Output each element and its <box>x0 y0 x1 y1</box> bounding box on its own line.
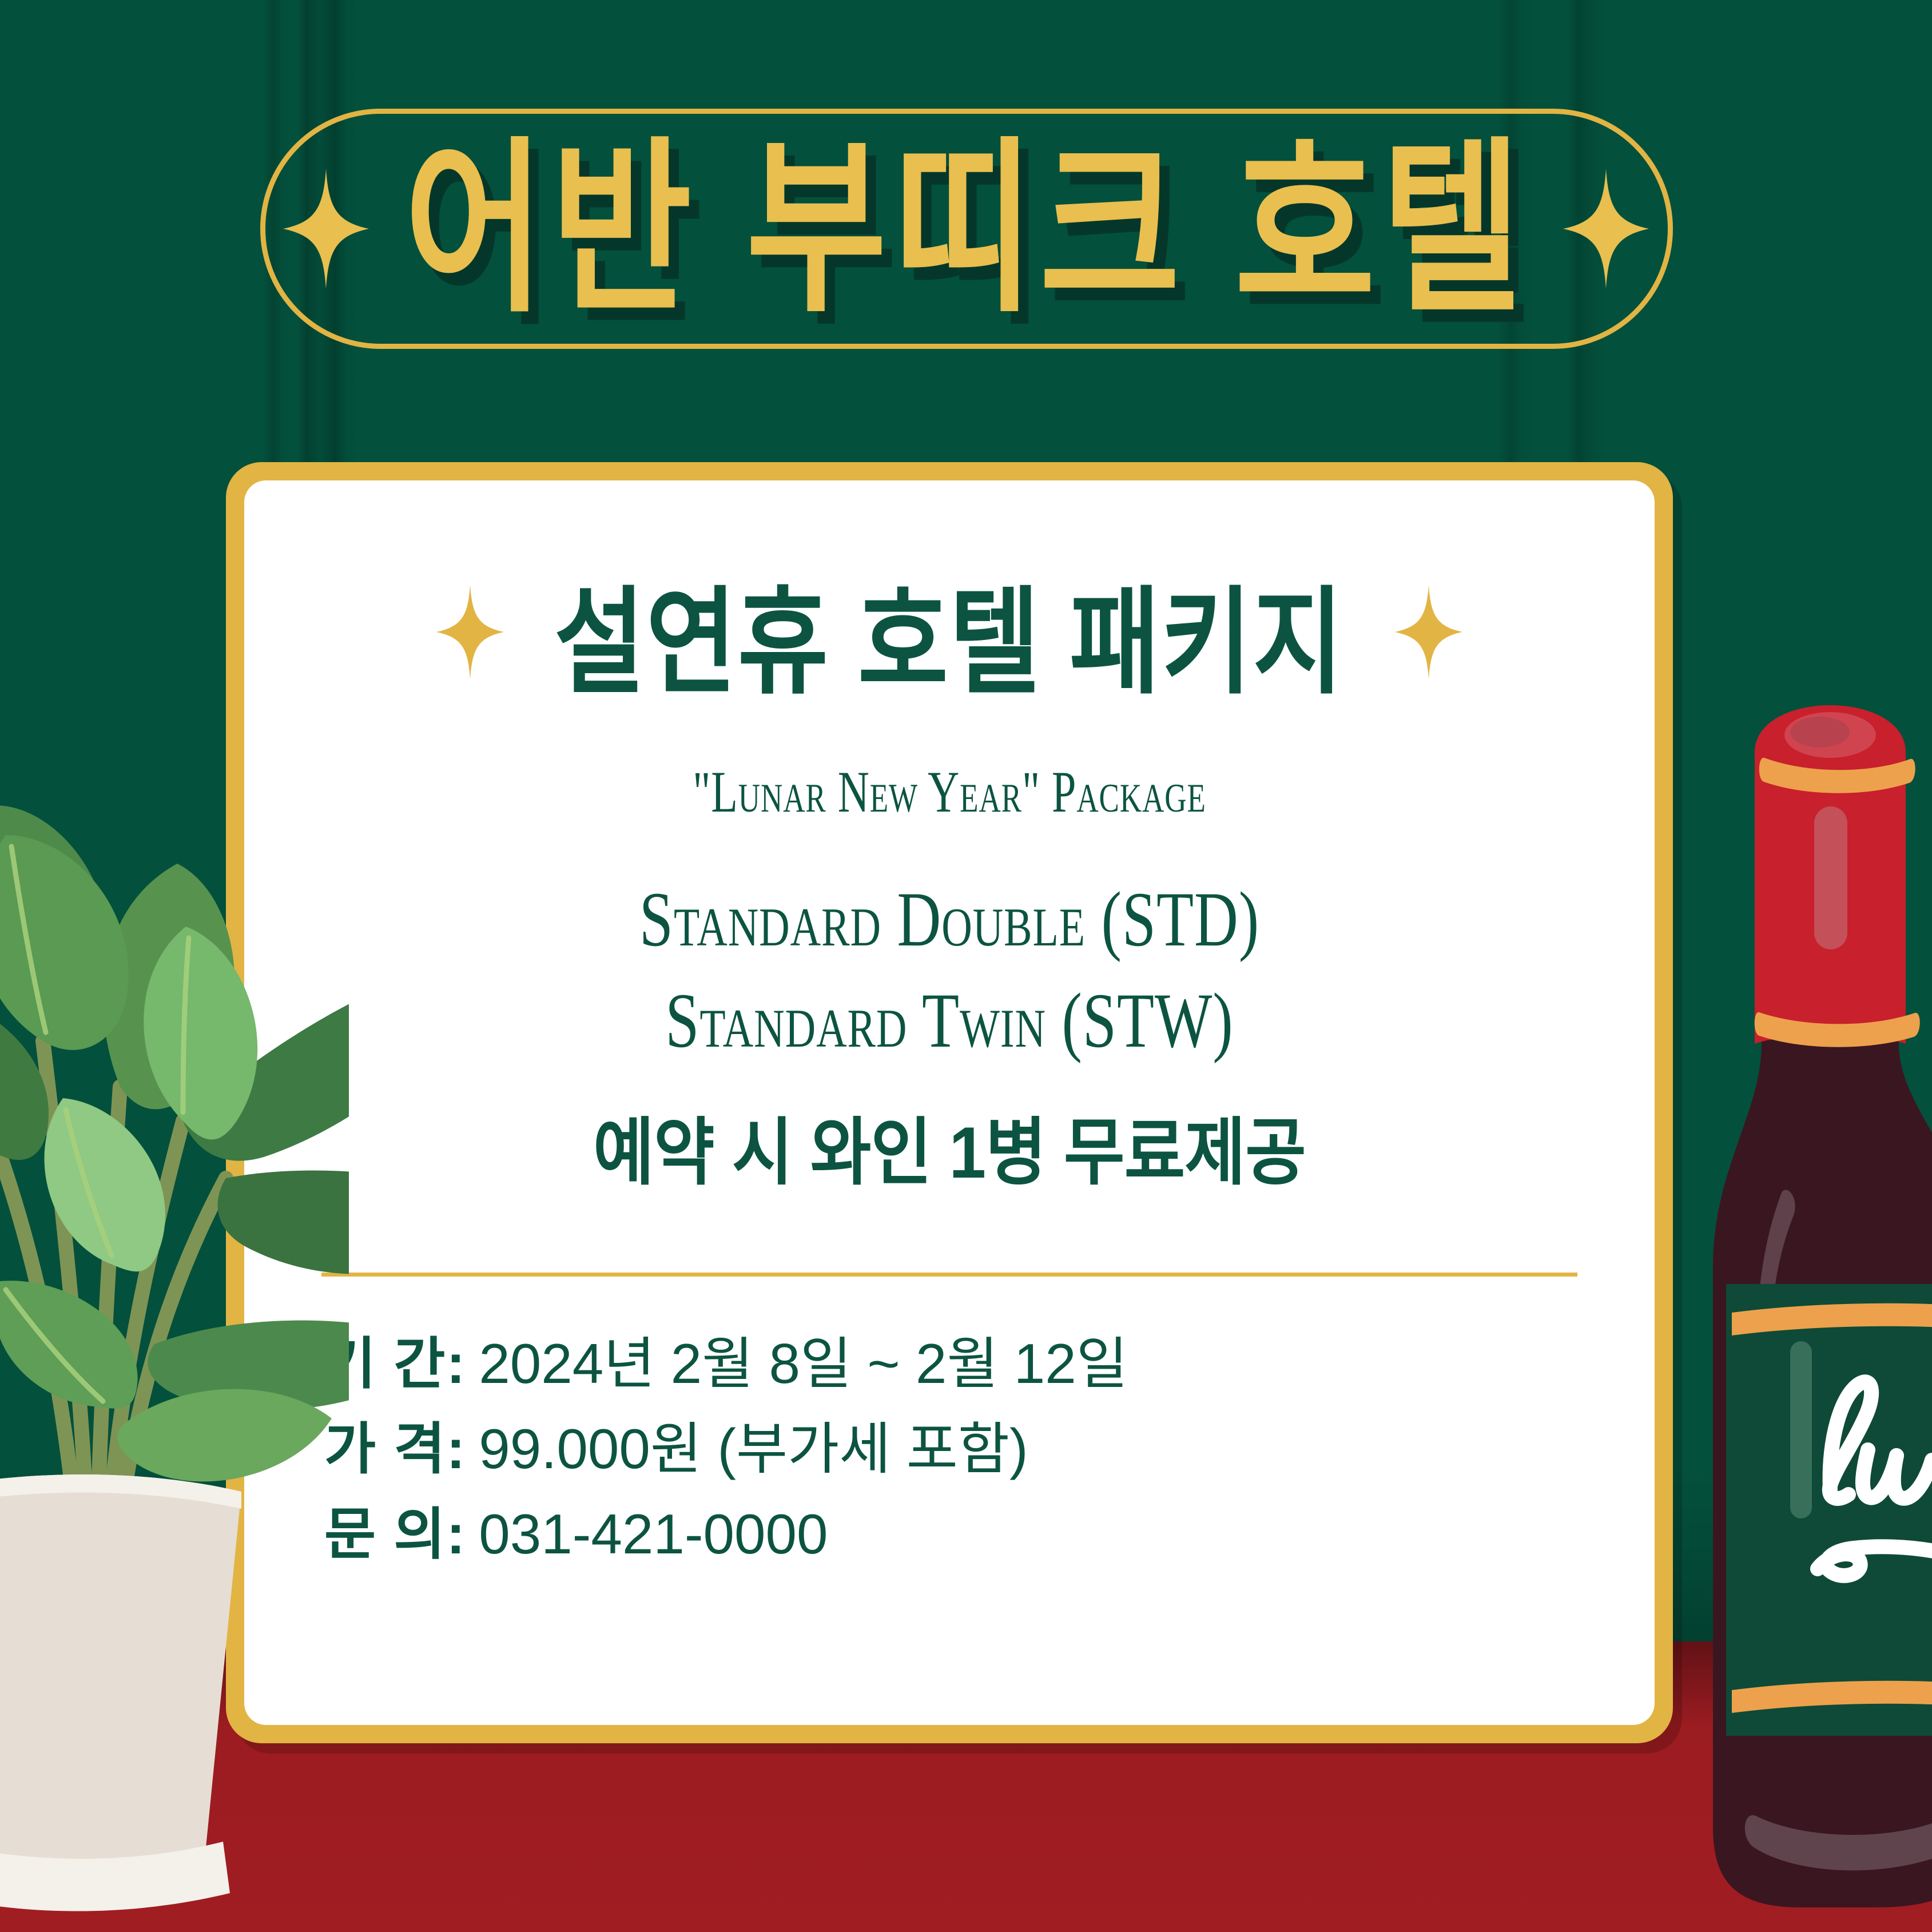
potted-plant-illustration <box>0 606 349 1932</box>
plant-pot <box>0 1474 241 1871</box>
sparkle-icon <box>1395 583 1462 681</box>
package-subtitle: "Lunar New Year" Package <box>293 758 1605 826</box>
hotel-brand-name: 어반 부띠크 호텔 <box>404 136 1528 323</box>
sparkle-icon <box>436 583 504 681</box>
room-type-list: Standard Double (STD) Standard Twin (STW… <box>244 869 1655 1194</box>
card-divider <box>321 1273 1577 1277</box>
package-card: 설연휴 호텔 패키지 "Lunar New Year" Package Stan… <box>244 480 1655 1725</box>
bottle-label-gloss <box>1790 1341 1812 1518</box>
detail-row-period: 기 간: 2024년 2월 8일 ~ 2월 12일 <box>324 1321 1597 1406</box>
header-title-row: 어반 부띠크 호텔 <box>0 109 1932 349</box>
sparkle-icon <box>283 169 369 289</box>
detail-value: 99.000원 (부가세 포함) <box>479 1406 1028 1492</box>
wine-perk-text: 예약 시 와인 1병 무료제공 <box>244 1094 1655 1199</box>
bottle-label <box>1726 1284 1932 1736</box>
package-title: 설연휴 호텔 패키지 <box>554 548 1345 717</box>
detail-value: 031-421-0000 <box>479 1492 828 1577</box>
package-card-frame: 설연휴 호텔 패키지 "Lunar New Year" Package Stan… <box>226 462 1673 1743</box>
detail-list: 기 간: 2024년 2월 8일 ~ 2월 12일 가 격: 99.000원 (… <box>324 1321 1597 1577</box>
poster: 어반 부띠크 호텔 설연휴 호텔 패키지 "Lunar New Year" Pa… <box>0 0 1932 1932</box>
sparkle-icon <box>1563 169 1649 289</box>
wine-bottle-illustration <box>1659 678 1932 1932</box>
bottle-capsule-gloss <box>1790 717 1850 748</box>
detail-row-price: 가 격: 99.000원 (부가세 포함) <box>324 1406 1597 1492</box>
detail-value: 2024년 2월 8일 ~ 2월 12일 <box>479 1321 1128 1406</box>
detail-row-contact: 문 의: 031-421-0000 <box>324 1492 1597 1577</box>
card-title-row: 설연휴 호텔 패키지 <box>244 560 1655 703</box>
room-type-item: Standard Twin (STW) <box>280 959 1620 1083</box>
bottle-capsule-highlight <box>1814 806 1847 949</box>
